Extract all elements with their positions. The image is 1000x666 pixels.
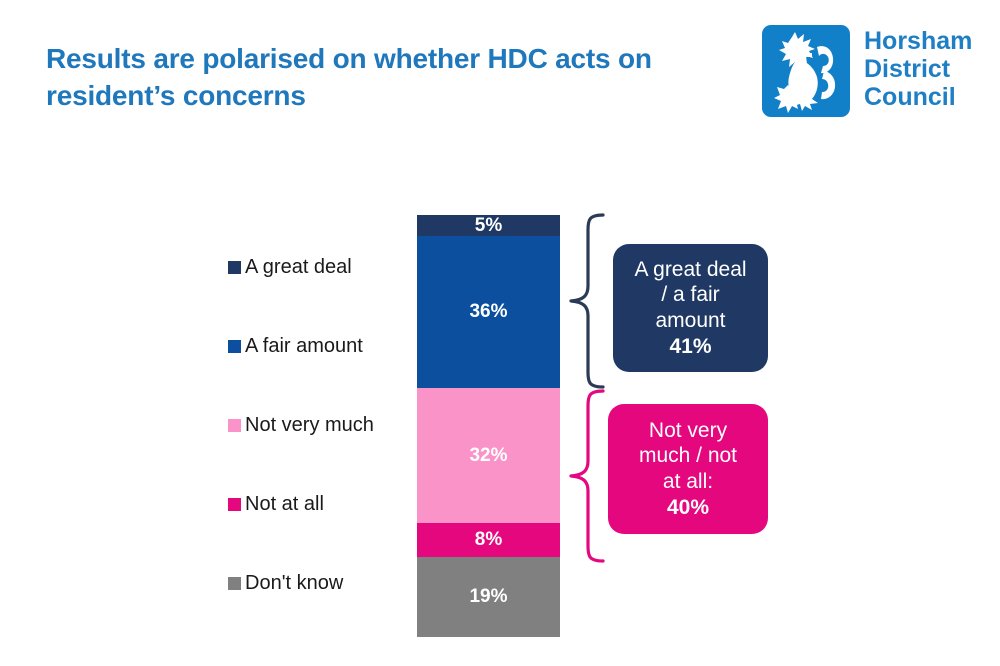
callout-line-2: / a fair [661,282,719,308]
logo-line-1: Horsham [864,27,972,55]
logo-line-2: District [864,55,972,83]
callout-line-3: amount [655,308,725,334]
legend-item-label: A fair amount [245,335,363,358]
callout-line-1: A great deal [634,257,746,283]
legend-swatch-icon [228,340,241,353]
legend-item-not-very-much[interactable]: Not very much [228,413,374,437]
legend-item-label: A great deal [245,256,352,279]
legend-item-label: Not very much [245,414,374,437]
callout-great-deal-fair-amount[interactable]: A great deal / a fair amount 41% [613,244,768,372]
legend-swatch-icon [228,261,241,274]
legend-swatch-icon [228,419,241,432]
callout-value: 41% [669,334,711,360]
callout-line-2: much / not [639,443,737,469]
bar-segment-a-great-deal[interactable]: 5% [417,215,560,236]
logo-line-3: Council [864,83,972,111]
horsham-district-council-logo: Horsham District Council [762,25,972,117]
rampant-lion-icon [762,25,850,117]
chart-legend: A great deal A fair amount Not very much… [228,255,374,595]
legend-item-label: Don't know [245,572,343,595]
legend-item-a-great-deal[interactable]: A great deal [228,255,374,279]
callout-not-very-much-not-at-all[interactable]: Not very much / not at all: 40% [608,404,768,534]
legend-item-dont-know[interactable]: Don't know [228,571,374,595]
brace-top-icon [567,212,611,395]
bar-segment-not-at-all[interactable]: 8% [417,523,560,557]
page-title: Results are polarised on whether HDC act… [46,40,706,114]
logo-wordmark: Horsham District Council [864,25,972,111]
legend-item-a-fair-amount[interactable]: A fair amount [228,334,374,358]
bar-segment-value: 5% [475,215,502,237]
bar-segment-dont-know[interactable]: 19% [417,557,560,637]
bar-segment-value: 36% [469,301,507,323]
bar-segment-value: 19% [469,586,507,608]
callout-line-1: Not very [649,418,727,444]
bar-segment-not-very-much[interactable]: 32% [417,388,560,523]
callout-value: 40% [667,495,709,521]
legend-item-not-at-all[interactable]: Not at all [228,492,374,516]
callout-line-3: at all: [663,469,713,495]
stacked-bar-chart: 5% 36% 32% 8% 19% [417,215,560,637]
bar-segment-value: 32% [469,445,507,467]
bar-segment-value: 8% [475,529,502,551]
bar-segment-a-fair-amount[interactable]: 36% [417,236,560,388]
legend-swatch-icon [228,498,241,511]
brace-bottom-icon [567,388,611,569]
legend-item-label: Not at all [245,493,324,516]
legend-swatch-icon [228,577,241,590]
